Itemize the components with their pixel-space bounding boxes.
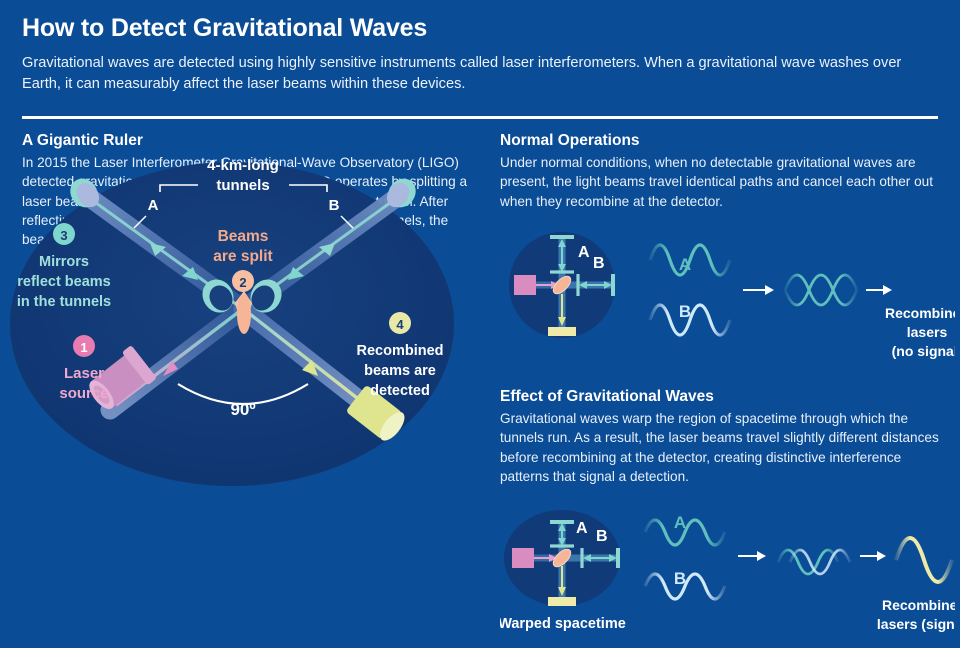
ops-result-line1: Recombined <box>885 305 955 321</box>
ops-arm-label-b: B <box>593 255 605 272</box>
infographic-page: How to Detect Gravitational Waves Gravit… <box>0 0 960 648</box>
tunnel-label-line1: 4-km-long <box>207 157 279 174</box>
step3-line1: Mirrors <box>39 254 89 270</box>
ops-arm-label-a: A <box>578 244 590 261</box>
arm-label-a: A <box>148 197 159 214</box>
tunnel-label-line2: tunnels <box>216 177 269 194</box>
effect-diagram: A B Warped spacetime A B <box>500 500 955 645</box>
eff-wave-b-label: B <box>674 569 686 588</box>
interfering-waves <box>785 275 857 305</box>
angle-label: 90º <box>230 400 255 419</box>
page-title: How to Detect Gravitational Waves <box>22 14 938 42</box>
eff-flow-arrow-2 <box>860 551 886 561</box>
section-effect-of-waves: Effect of Gravitational Waves Gravitatio… <box>500 388 940 486</box>
wave-b-label: B <box>679 302 691 321</box>
step4-line2: beams are <box>364 363 436 379</box>
warped-laser-source-block <box>512 548 534 568</box>
eff-result-line1: Recombined <box>882 597 955 613</box>
step-badge-2-number: 2 <box>239 275 246 290</box>
step-badge-3-number: 3 <box>60 228 67 243</box>
step-badge-4-number: 4 <box>396 317 404 332</box>
section-heading-normal: Normal Operations <box>500 132 940 150</box>
ligo-diagram: 90º 4-km-long tunnels A B Beams are spli… <box>0 148 470 500</box>
step4-line1: Recombined <box>356 343 443 359</box>
step1-line2: source <box>59 385 108 402</box>
flow-arrow-1 <box>743 285 774 295</box>
interf-wave-2 <box>785 275 857 305</box>
step4-line3: detected <box>370 383 430 399</box>
eff-result-line2: lasers (signal) <box>877 616 955 632</box>
eff-arm-label-a: A <box>576 520 588 537</box>
interf-wave-1 <box>785 275 857 305</box>
normal-operations-diagram: A B A B <box>500 222 955 370</box>
section-body-effect: Gravitational waves warp the region of s… <box>500 409 940 486</box>
header-divider <box>22 116 938 119</box>
header: How to Detect Gravitational Waves Gravit… <box>22 14 938 96</box>
eff-flow-arrow-1 <box>738 551 766 561</box>
eff-arm-label-b: B <box>596 528 608 545</box>
step3-line2: reflect beams <box>17 274 111 290</box>
laser-source-block <box>514 275 536 295</box>
section-normal-operations: Normal Operations Under normal condition… <box>500 132 940 211</box>
arm-label-b: B <box>329 197 340 214</box>
ops-result-line3: (no signal) <box>892 343 955 359</box>
detector-block <box>548 327 576 336</box>
step2-line1: Beams <box>218 228 269 245</box>
step1-line1: Laser <box>64 365 104 382</box>
eff-wave-a-label: A <box>674 513 686 532</box>
step3-line3: in the tunnels <box>17 294 111 310</box>
eff-interfering-waves <box>778 550 850 574</box>
splitter-core <box>237 294 251 334</box>
section-body-normal: Under normal conditions, when no detecta… <box>500 153 940 211</box>
page-subtitle: Gravitational waves are detected using h… <box>22 53 936 96</box>
step2-line2: are split <box>213 248 272 265</box>
step-badge-1-number: 1 <box>80 340 87 355</box>
flow-arrow-2 <box>866 285 892 295</box>
ops-result-line2: lasers <box>907 324 948 340</box>
signal-wave-path <box>896 538 952 582</box>
warped-detector-block <box>548 597 576 606</box>
wave-a-label: A <box>679 255 691 274</box>
warped-spacetime-caption: Warped spacetime <box>500 616 626 632</box>
section-heading-effect: Effect of Gravitational Waves <box>500 388 940 406</box>
